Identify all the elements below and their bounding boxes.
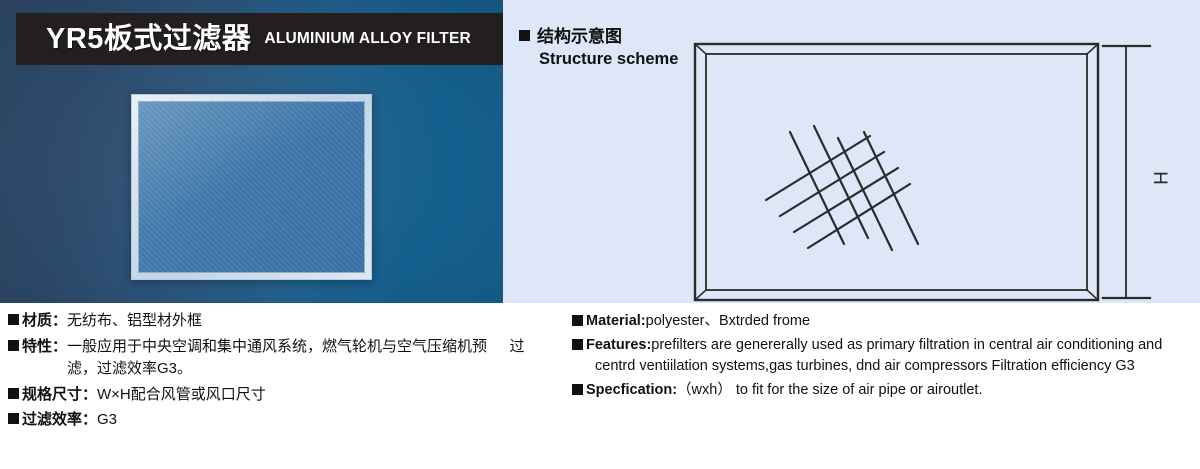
spec-row-features-en: Features:prefilters are genererally used…: [572, 335, 1192, 377]
spec-row-efficiency-cn: 过滤效率： G3: [8, 409, 548, 432]
product-photo-panel: YR5板式过滤器 ALUMINIUM ALLOY FILTER: [0, 0, 503, 303]
filter-media-panel: [138, 101, 365, 273]
square-bullet-icon: [8, 388, 19, 399]
spec-label-features-en: Features:: [586, 337, 651, 353]
product-title-en: ALUMINIUM ALLOY FILTER: [264, 30, 470, 48]
product-title-bar: YR5板式过滤器 ALUMINIUM ALLOY FILTER: [16, 13, 503, 65]
spec-value-features-en: Features:prefilters are genererally used…: [586, 335, 1192, 377]
spec-value-material-cn: 无纺布、铝型材外框: [67, 310, 202, 333]
spec-row-specification-en: Specfication: （wxh） to fit for the size …: [572, 380, 1192, 401]
structure-scheme-title-cn: 结构示意图: [537, 27, 622, 46]
square-bullet-icon: [572, 384, 583, 395]
structure-scheme-drawing: H W: [688, 40, 1188, 302]
filter-aluminium-frame: [131, 94, 372, 280]
spec-features-en-line2: centrd ventiilation systems,gas turbines…: [586, 356, 1192, 377]
spec-features-cn-line1: 一般应用于中央空调和集中通风系统，燃气轮机与空气压缩机预: [67, 338, 487, 355]
product-title-cn: YR5板式过滤器: [46, 25, 251, 54]
specifications-area: 材质： 无纺布、铝型材外框 特性： 一般应用于中央空调和集中通风系统，燃气轮机与…: [0, 303, 1200, 469]
top-area: YR5板式过滤器 ALUMINIUM ALLOY FILTER 结构示意图 St…: [0, 0, 1200, 303]
dimension-height: [1103, 46, 1150, 298]
spec-label-efficiency-cn: 过滤效率：: [22, 409, 97, 432]
spec-row-material-cn: 材质： 无纺布、铝型材外框: [8, 310, 548, 333]
spec-row-material-en: Material: polyester、Bxtrded frome: [572, 311, 1192, 332]
filter-media-sheen: [139, 102, 364, 272]
frame-inner-rect: [706, 54, 1087, 290]
square-bullet-icon: [8, 413, 19, 424]
square-bullet-icon: [519, 30, 530, 41]
spec-value-material-en: polyester、Bxtrded frome: [646, 311, 810, 332]
structure-scheme-panel: 结构示意图 Structure scheme: [503, 0, 1200, 303]
spec-label-specification-en: Specfication:: [586, 380, 677, 401]
structure-scheme-title-en: Structure scheme: [539, 49, 678, 70]
spec-features-en-line1: prefilters are genererally used as prima…: [651, 337, 1162, 353]
square-bullet-icon: [572, 339, 583, 350]
spec-value-features-cn: 一般应用于中央空调和集中通风系统，燃气轮机与空气压缩机预 过滤，过滤效率G3。: [67, 336, 548, 381]
specifications-english: Material: polyester、Bxtrded frome Featur…: [572, 311, 1192, 404]
spec-value-specification-en: （wxh） to fit for the size of air pipe or…: [677, 380, 982, 401]
dimension-height-label: H: [1149, 171, 1170, 185]
structure-scheme-title-cn-row: 结构示意图: [519, 26, 678, 48]
spec-value-size-cn: W×H配合风管或风口尺寸: [97, 384, 266, 407]
spec-label-material-en: Material:: [586, 311, 646, 332]
spec-row-size-cn: 规格尺寸： W×H配合风管或风口尺寸: [8, 384, 548, 407]
spec-label-material-cn: 材质：: [22, 310, 67, 333]
specifications-chinese: 材质： 无纺布、铝型材外框 特性： 一般应用于中央空调和集中通风系统，燃气轮机与…: [8, 310, 548, 435]
square-bullet-icon: [572, 315, 583, 326]
spec-value-efficiency-cn: G3: [97, 409, 117, 432]
spec-label-features-cn: 特性：: [22, 336, 67, 359]
filter-product-image: [131, 94, 372, 280]
square-bullet-icon: [8, 340, 19, 351]
square-bullet-icon: [8, 314, 19, 325]
structure-scheme-heading: 结构示意图 Structure scheme: [519, 26, 678, 70]
spec-label-size-cn: 规格尺寸：: [22, 384, 97, 407]
spec-row-features-cn: 特性： 一般应用于中央空调和集中通风系统，燃气轮机与空气压缩机预 过滤，过滤效率…: [8, 336, 548, 381]
